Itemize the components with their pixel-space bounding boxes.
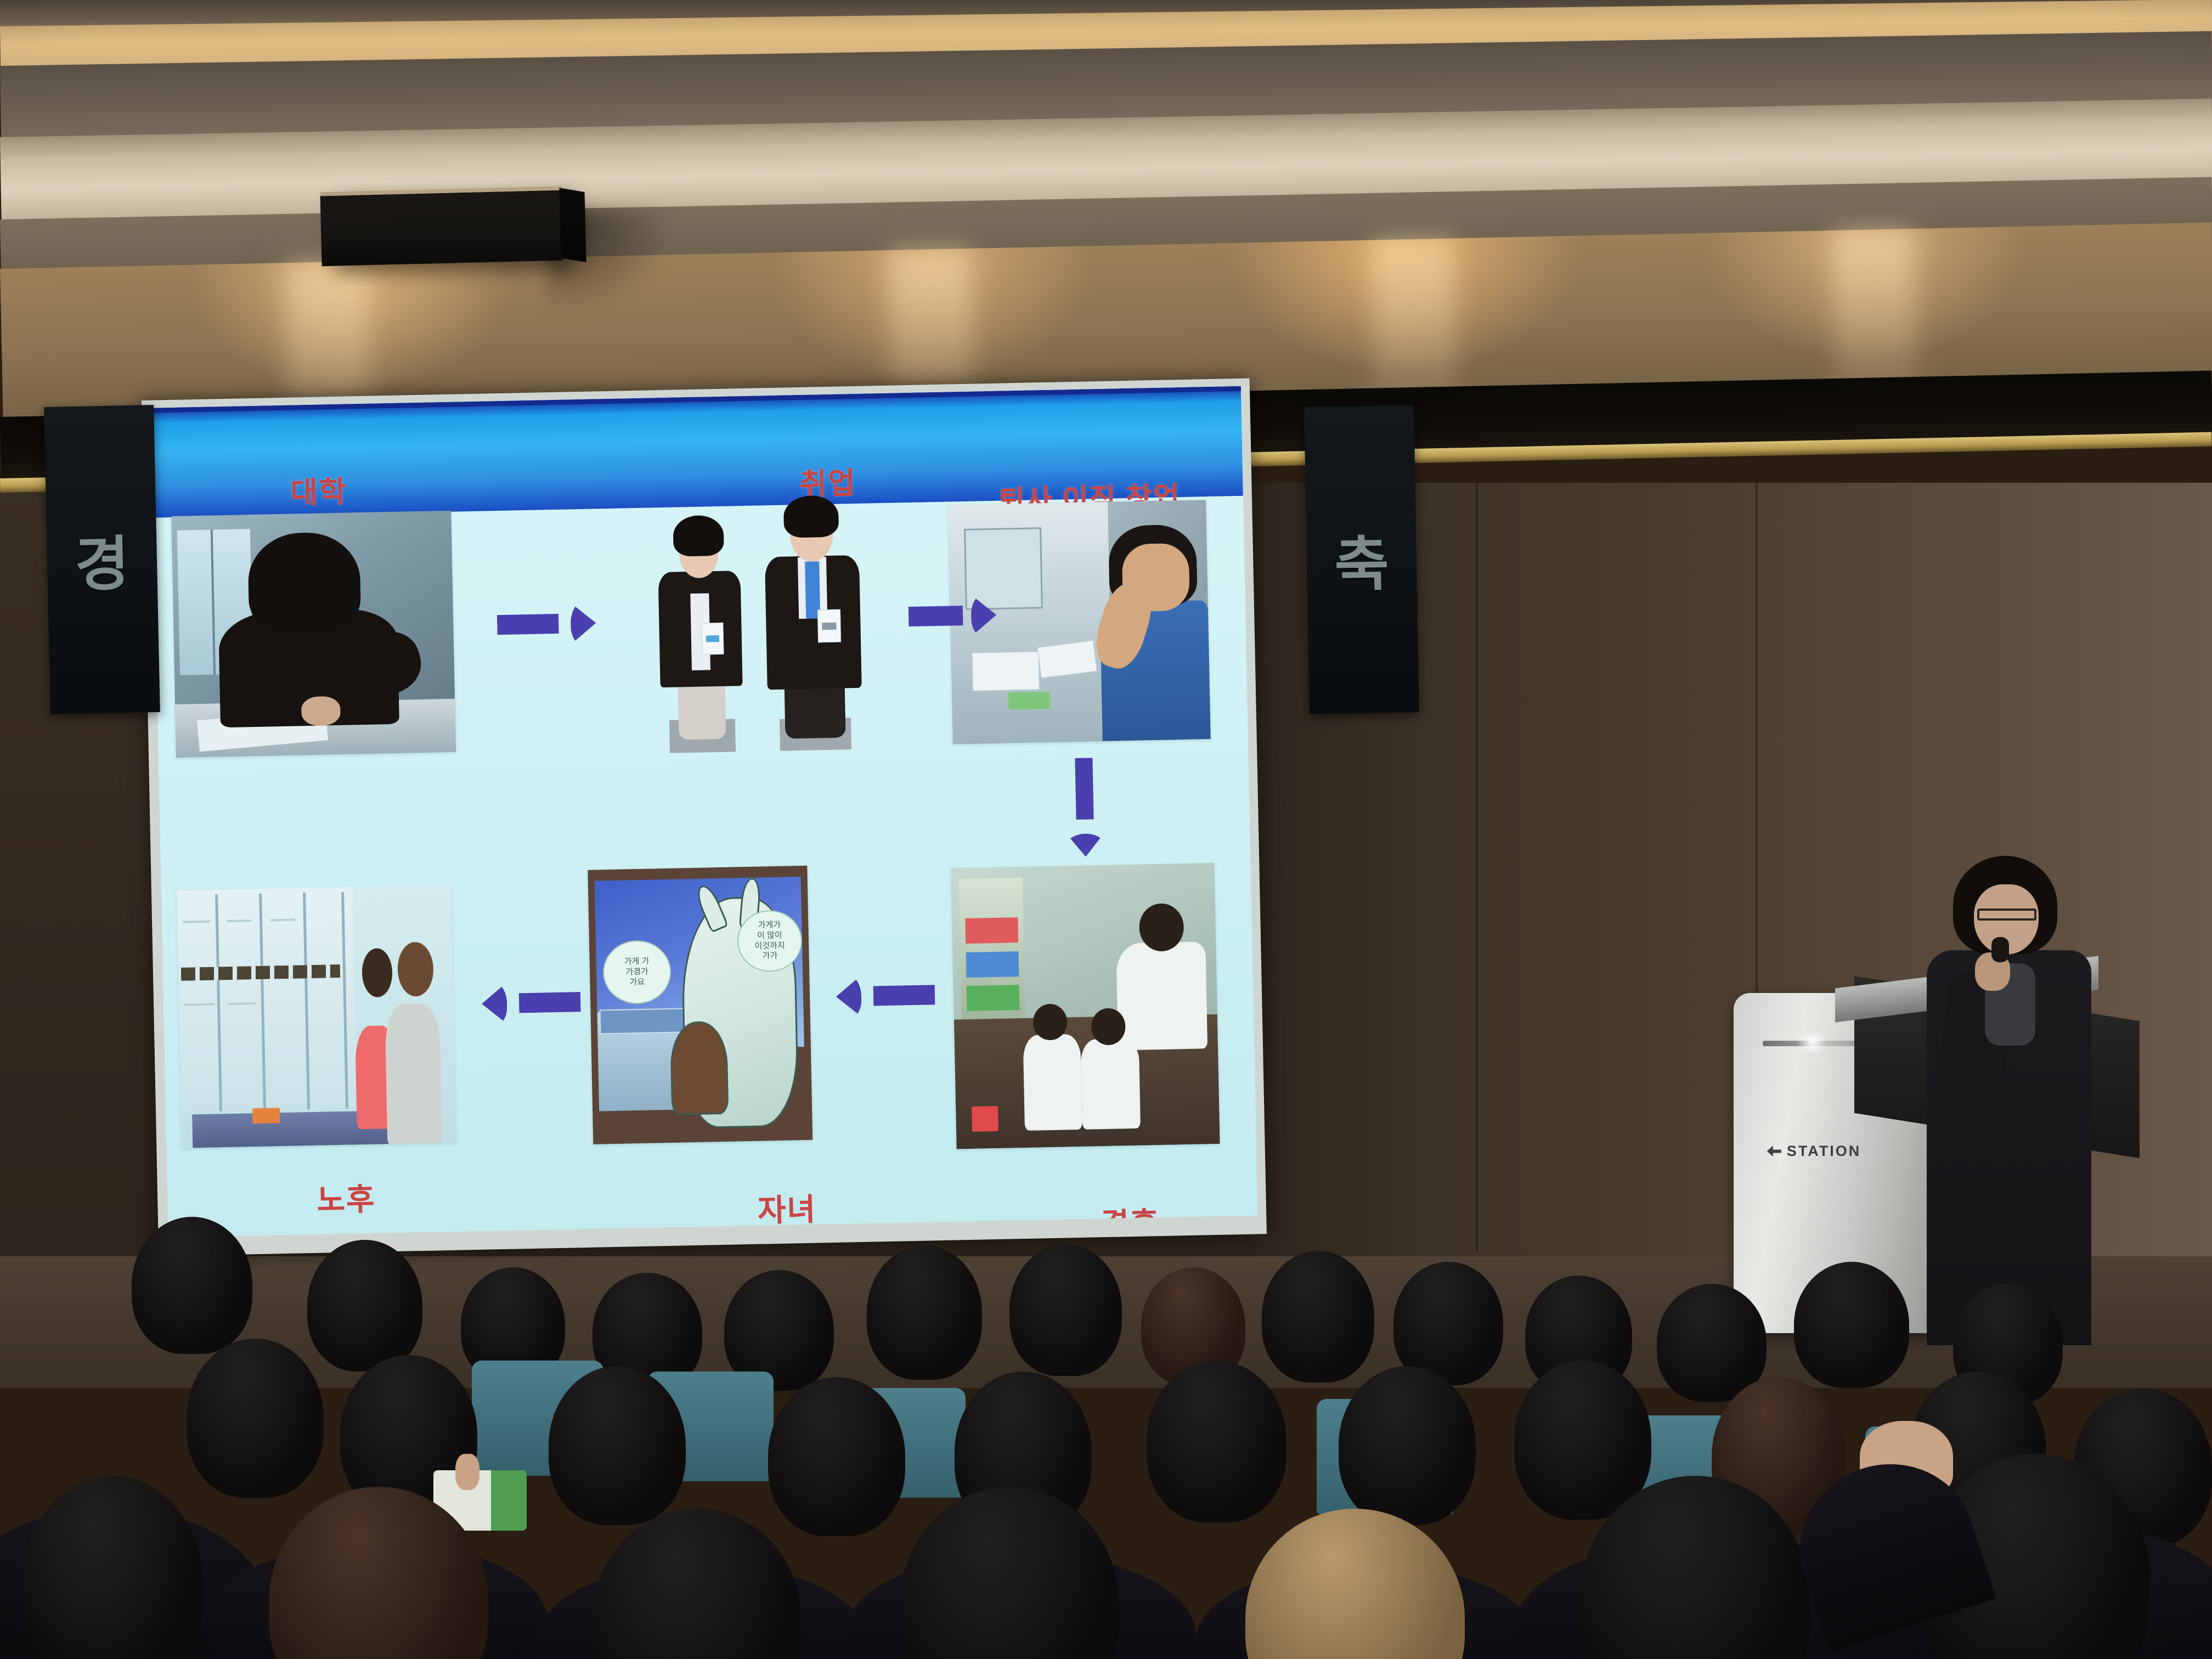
audience-head: [22, 1476, 203, 1659]
audience-head: [1339, 1366, 1476, 1525]
slide-photo-university: [171, 511, 456, 758]
audience-head: [1245, 1509, 1465, 1659]
slide-arrow-univ-to-job: [497, 602, 596, 646]
audience-head: [187, 1339, 324, 1498]
slide-arrow-children-to-retire: [481, 981, 580, 1025]
slide-arrow-career-to-marriage: [1065, 758, 1104, 857]
audience-head: [1514, 1361, 1651, 1520]
audience-head: [1009, 1244, 1122, 1376]
audience-head: [900, 1487, 1119, 1659]
slide-photo-retirement: [177, 885, 456, 1148]
glasses-icon: [1977, 909, 2036, 921]
audience-head: [132, 1217, 252, 1354]
audience-ear: [455, 1454, 479, 1490]
projection-screen: 대학 취업 퇴사.이직.창업 노후 자녀 결혼: [142, 378, 1267, 1256]
slide-label-univ: 대학: [290, 467, 348, 512]
ceiling-speaker-icon: [320, 187, 563, 267]
audience-head: [1262, 1251, 1374, 1383]
slide-photo-interview: [636, 491, 888, 754]
podium-brand-text: STATION: [1787, 1143, 1861, 1160]
speech-bubble-right-text: 가게가 이 많이 이것까지 가가: [754, 920, 786, 962]
audience-head: [867, 1245, 982, 1380]
audience-head: [1794, 1262, 1909, 1388]
wall-panel-seam: [1476, 483, 1478, 1251]
slide-photo-marriage: [951, 863, 1220, 1149]
podium-brand: STATION: [1767, 1143, 1861, 1160]
banner-left-text: 경: [74, 516, 131, 603]
banner-right: 축: [1304, 405, 1419, 714]
speech-bubble-left-text: 가게 가 가경가 가요: [624, 957, 650, 988]
applicant-female: [649, 521, 752, 754]
microphone-icon: [1991, 937, 2009, 962]
slide-arrow-job-to-career: [908, 594, 996, 637]
audience-head: [1147, 1361, 1286, 1522]
audience-head: [307, 1240, 422, 1372]
audience: [0, 1180, 2212, 1659]
audience-head: [549, 1366, 686, 1525]
slide-arrow-marriage-to-children: [836, 974, 935, 1018]
applicant-male: [756, 493, 871, 752]
auditorium-scene: 대학 취업 퇴사.이직.창업 노후 자녀 결혼: [0, 0, 2212, 1659]
banner-left: 경: [44, 405, 160, 714]
audience-head: [592, 1509, 801, 1659]
banner-right-text: 축: [1334, 516, 1390, 603]
audience-head: [768, 1377, 905, 1536]
presentation-slide: 대학 취업 퇴사.이직.창업 노후 자녀 결혼: [151, 386, 1257, 1238]
slide-photo-children: 가게 가 가경가 가요 가게가 이 많이 이것까지 가가: [588, 866, 812, 1144]
station-logo-icon: [1767, 1145, 1781, 1156]
